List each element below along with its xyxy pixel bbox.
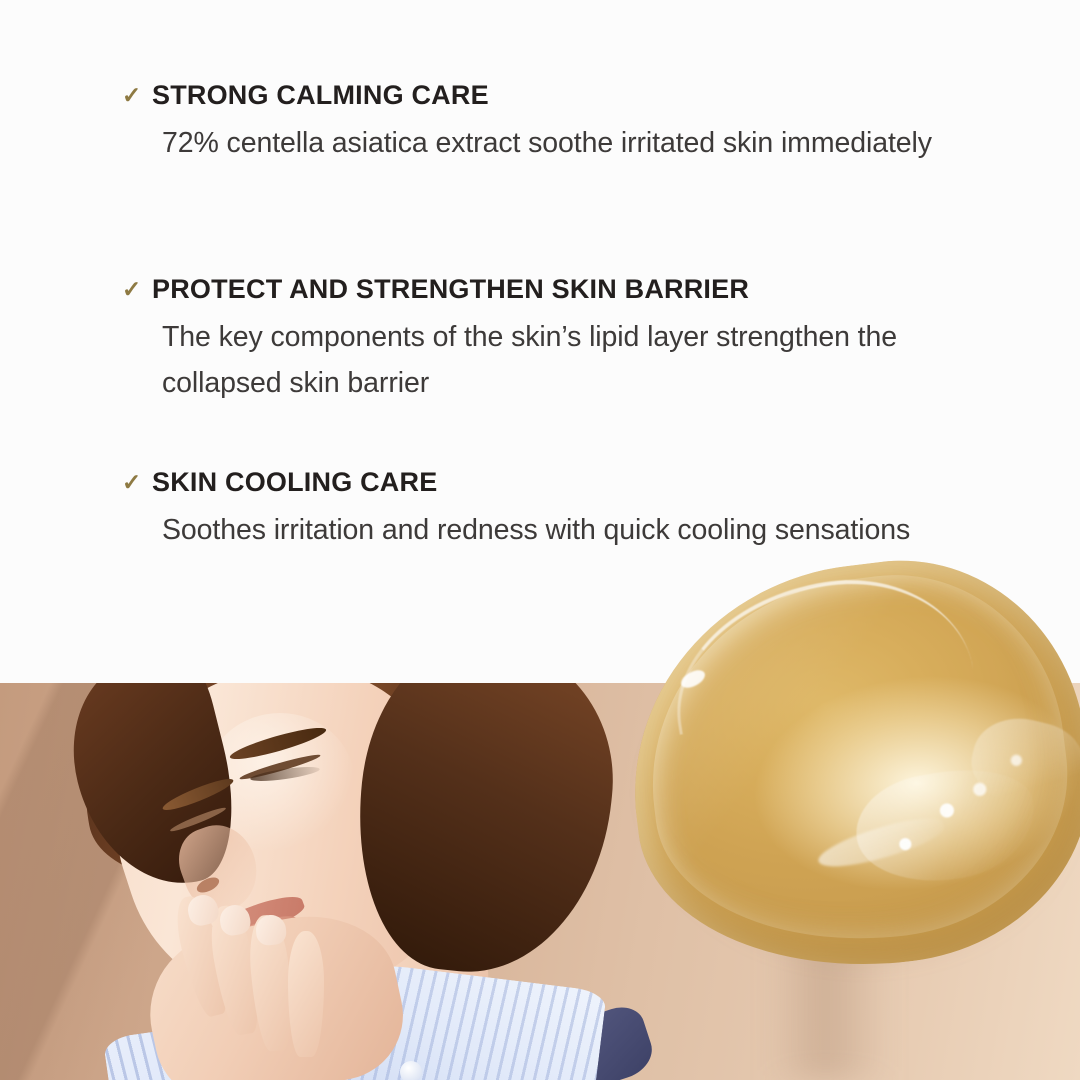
feature-strong-calming-care: ✓ STRONG CALMING CARE 72% centella asiat… (122, 78, 932, 166)
feature-title: SKIN COOLING CARE (152, 465, 437, 499)
check-icon: ✓ (122, 465, 152, 499)
check-icon: ✓ (122, 272, 152, 306)
feature-title: STRONG CALMING CARE (152, 78, 489, 112)
feature-heading-row: ✓ PROTECT AND STRENGTHEN SKIN BARRIER (122, 272, 952, 306)
feature-description: The key components of the skin’s lipid l… (162, 314, 952, 406)
feature-protect-and-strengthen-skin-barrier: ✓ PROTECT AND STRENGTHEN SKIN BARRIER Th… (122, 272, 952, 406)
feature-heading-row: ✓ STRONG CALMING CARE (122, 78, 932, 112)
feature-heading-row: ✓ SKIN COOLING CARE (122, 465, 910, 499)
model-figure (0, 683, 700, 1080)
feature-skin-cooling-care: ✓ SKIN COOLING CARE Soothes irritation a… (122, 465, 910, 553)
feature-description: Soothes irritation and redness with quic… (162, 507, 910, 553)
feature-title: PROTECT AND STRENGTHEN SKIN BARRIER (152, 272, 749, 306)
promo-page: ✓ STRONG CALMING CARE 72% centella asiat… (0, 0, 1080, 1080)
finger (288, 931, 324, 1057)
shirt-button (400, 1061, 422, 1080)
feature-description: 72% centella asiatica extract soothe irr… (162, 120, 932, 166)
amber-gel-swatch (620, 560, 1080, 980)
check-icon: ✓ (122, 78, 152, 112)
